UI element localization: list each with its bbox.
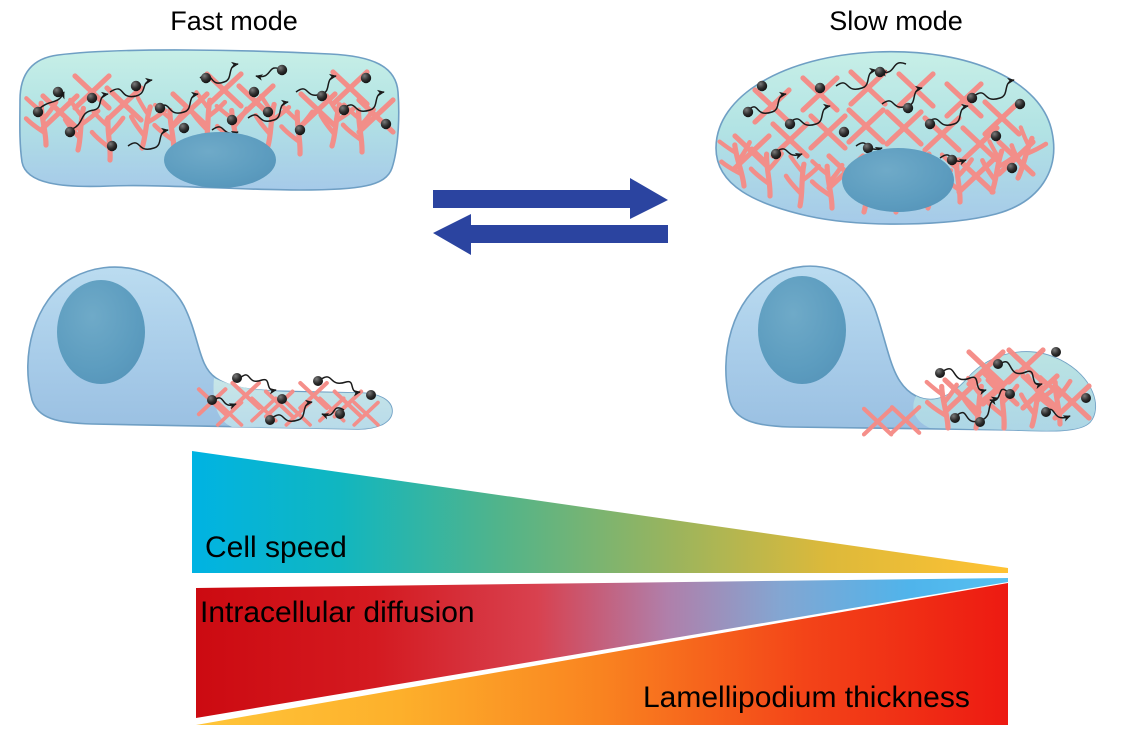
nucleus: [758, 276, 846, 384]
fast-mode-cell-side-view: [28, 267, 392, 429]
slow-mode-cell-top-view: [716, 52, 1054, 224]
band-cell-speed: Cell speed: [192, 451, 1008, 573]
slow-mode-cell-side-view: [726, 266, 1095, 434]
equilibrium-arrows: [433, 178, 668, 255]
arrow-forward: [433, 178, 668, 219]
arrow-reverse: [433, 214, 668, 255]
fast-mode-cell-top-view: [20, 50, 399, 190]
nucleus: [842, 148, 954, 212]
panel-title-fast: Fast mode: [170, 6, 298, 36]
cell-speed-label: Cell speed: [205, 531, 347, 564]
schematic-figure: Fast mode Slow mode: [0, 0, 1129, 729]
panel-title-slow: Slow mode: [829, 6, 963, 36]
nucleus: [164, 132, 276, 188]
lamellipodium-thickness-label: Lamellipodium thickness: [643, 681, 970, 714]
intracellular-diffusion-label: Intracellular diffusion: [200, 596, 475, 629]
nucleus: [57, 280, 145, 384]
